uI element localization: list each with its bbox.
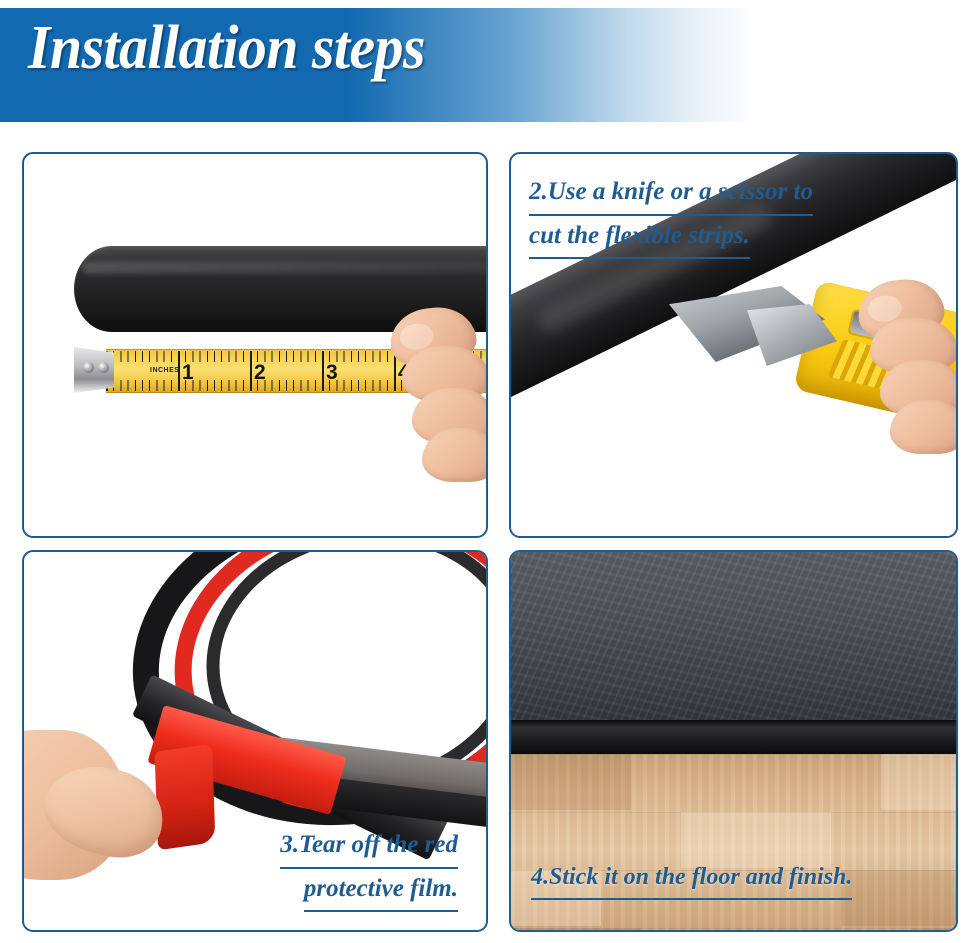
- grey-wall: [511, 552, 956, 720]
- tape-number-1: 1: [182, 361, 194, 385]
- step-panel-3: 3.Tear off the red protective film.: [22, 550, 488, 932]
- step-3-caption: 3.Tear off the red protective film.: [280, 825, 458, 912]
- hand-holding-knife: [854, 276, 958, 476]
- floor-plank: [881, 754, 958, 810]
- step-panel-4: 4.Stick it on the floor and finish.: [509, 550, 958, 932]
- page-title: Installation steps: [28, 17, 425, 79]
- step-panel-2: 2.Use a knife or a scissor to cut the fl…: [509, 152, 958, 538]
- hand-peeling-film: [22, 720, 214, 920]
- step-3-caption-line2: protective film.: [304, 869, 458, 913]
- hand-holding-tape: [386, 304, 488, 494]
- tape-rivet-left: [83, 362, 94, 373]
- step-4-caption: 4.Stick it on the floor and finish.: [531, 858, 852, 900]
- tape-number-2: 2: [254, 361, 266, 385]
- floor-plank: [911, 928, 958, 932]
- tape-number-3: 3: [326, 361, 338, 385]
- step-2-caption-line2: cut the flexible strips.: [529, 216, 750, 260]
- step-2-caption: 2.Use a knife or a scissor to cut the fl…: [529, 172, 813, 259]
- step-4-caption-text: 4.Stick it on the floor and finish.: [531, 858, 852, 900]
- step-2-caption-line1: 2.Use a knife or a scissor to: [529, 172, 813, 216]
- floor-plank: [841, 870, 958, 926]
- wood-floor: [511, 754, 956, 930]
- step-3-caption-line1: 3.Tear off the red: [280, 825, 458, 869]
- floor-plank: [511, 754, 631, 810]
- tape-unit-label: INCHES: [150, 367, 179, 374]
- tape-rivet-right: [98, 362, 109, 373]
- tape-hook: [74, 347, 114, 393]
- installed-black-trim-strip: [511, 720, 956, 754]
- step-panel-1: INCHES 1 2 3 4 5 1.Measure the correct l…: [22, 152, 488, 538]
- floor-plank: [511, 928, 641, 932]
- finger: [890, 400, 958, 454]
